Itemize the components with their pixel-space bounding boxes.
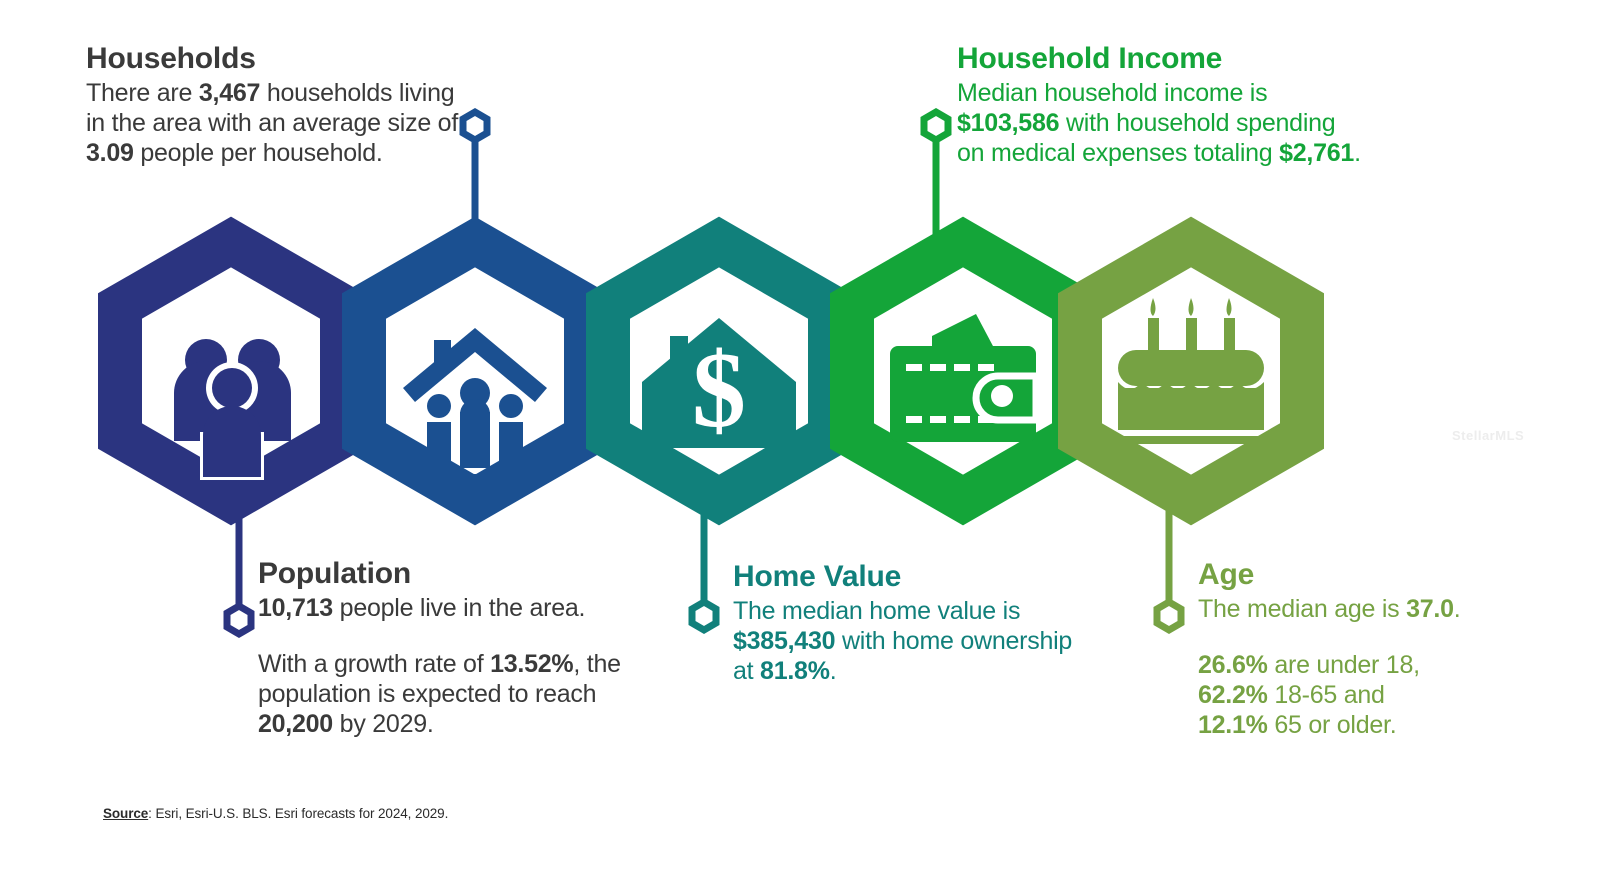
block-household-income: Household Income Median household income… bbox=[957, 42, 1367, 168]
block-population: Population 10,713 people live in the are… bbox=[258, 557, 668, 739]
watermark: StellarMLS bbox=[1452, 428, 1524, 443]
population-body: 10,713 people live in the area. bbox=[258, 593, 668, 623]
birthday-cake-icon bbox=[1112, 298, 1270, 444]
svg-text:$: $ bbox=[692, 331, 746, 450]
households-title: Households bbox=[86, 42, 466, 76]
source-label: Source bbox=[103, 806, 148, 821]
households-body: There are 3,467 households living in the… bbox=[86, 78, 466, 168]
house-dollar-icon: $ bbox=[642, 318, 796, 450]
population-growth-body: With a growth rate of 13.52%, the popula… bbox=[258, 649, 668, 739]
home-value-body: The median home value is $385,430 with h… bbox=[733, 596, 1083, 686]
hexagon-age[interactable] bbox=[1056, 236, 1326, 506]
age-title: Age bbox=[1198, 558, 1528, 592]
block-age: Age The median age is 37.0. 26.6% are un… bbox=[1198, 558, 1528, 740]
hexagon-population[interactable] bbox=[96, 236, 366, 506]
age-breakdown-body: 26.6% are under 18,62.2% 18-65 and12.1% … bbox=[1198, 650, 1528, 740]
infographic-canvas: $ bbox=[0, 0, 1600, 888]
source-text: : Esri, Esri-U.S. BLS. Esri forecasts fo… bbox=[148, 806, 448, 821]
block-households: Households There are 3,467 households li… bbox=[86, 42, 466, 168]
source-line: Source: Esri, Esri-U.S. BLS. Esri foreca… bbox=[103, 806, 448, 821]
age-body: The median age is 37.0. bbox=[1198, 594, 1528, 624]
home-value-title: Home Value bbox=[733, 560, 1083, 594]
household-income-title: Household Income bbox=[957, 42, 1367, 76]
population-title: Population bbox=[258, 557, 668, 591]
block-home-value: Home Value The median home value is $385… bbox=[733, 560, 1083, 686]
wallet-icon bbox=[890, 314, 1036, 442]
hexagon-households[interactable] bbox=[340, 236, 610, 506]
hexagon-home-value[interactable]: $ bbox=[584, 236, 854, 506]
hexagon-row: $ bbox=[0, 236, 1600, 506]
household-income-body: Median household income is $103,586 with… bbox=[957, 78, 1367, 168]
